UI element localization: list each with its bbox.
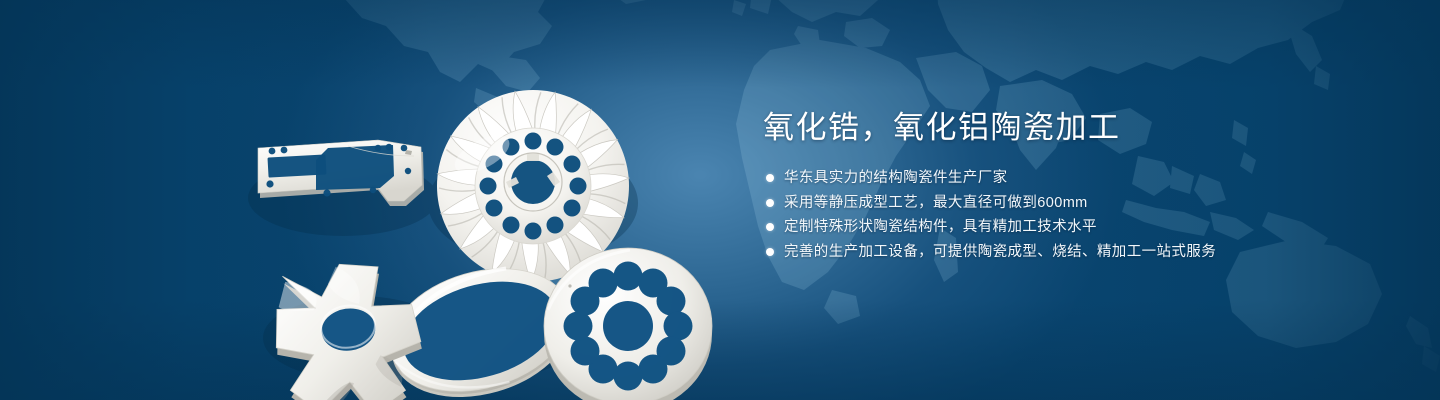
bullet-dot-icon xyxy=(766,199,774,207)
ceramic-perforated-disc xyxy=(544,248,712,400)
bullet-dot-icon xyxy=(766,223,774,231)
list-item: 定制特殊形状陶瓷结构件，具有精加工技术水平 xyxy=(763,215,1323,239)
list-item: 完善的生产加工设备，可提供陶瓷成型、烧结、精加工一站式服务 xyxy=(763,240,1323,264)
feature-text: 完善的生产加工设备，可提供陶瓷成型、烧结、精加工一站式服务 xyxy=(784,240,1216,264)
bullet-dot-icon xyxy=(766,248,774,256)
hero-banner: 氧化锆，氧化铝陶瓷加工 华东具实力的结构陶瓷件生产厂家 采用等静压成型工艺，最大… xyxy=(0,0,1440,400)
bullet-dot-icon xyxy=(766,174,774,182)
feature-list: 华东具实力的结构陶瓷件生产厂家 采用等静压成型工艺，最大直径可做到600mm 定… xyxy=(763,166,1323,264)
ceramic-parts-photo xyxy=(228,38,718,383)
banner-copy: 氧化锆，氧化铝陶瓷加工 华东具实力的结构陶瓷件生产厂家 采用等静压成型工艺，最大… xyxy=(763,108,1323,264)
feature-text: 定制特殊形状陶瓷结构件，具有精加工技术水平 xyxy=(784,215,1097,239)
feature-text: 华东具实力的结构陶瓷件生产厂家 xyxy=(784,166,1008,190)
list-item: 采用等静压成型工艺，最大直径可做到600mm xyxy=(763,191,1323,215)
list-item: 华东具实力的结构陶瓷件生产厂家 xyxy=(763,166,1323,190)
page-title: 氧化锆，氧化铝陶瓷加工 xyxy=(763,108,1323,148)
feature-text: 采用等静压成型工艺，最大直径可做到600mm xyxy=(784,191,1088,215)
